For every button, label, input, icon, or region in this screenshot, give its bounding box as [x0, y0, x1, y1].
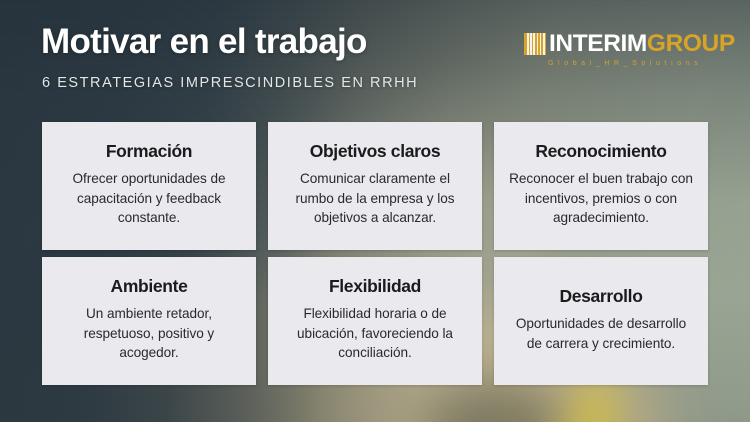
card-body: Oportunidades de desarrollo de carrera y…	[508, 314, 694, 353]
card-title: Objetivos claros	[310, 142, 441, 161]
strategy-card-formacion[interactable]: Formación Ofrecer oportunidades de capac…	[42, 122, 256, 250]
logo-tagline: Global_HR_Solutions	[548, 59, 716, 68]
strategy-card-reconocimiento[interactable]: Reconocimiento Reconocer el buen trabajo…	[494, 122, 708, 250]
strategy-card-grid: Formación Ofrecer oportunidades de capac…	[42, 122, 708, 382]
card-body: Comunicar claramente el rumbo de la empr…	[282, 169, 468, 228]
card-body: Flexibilidad horaria o de ubicación, fav…	[282, 304, 468, 363]
strategy-card-ambiente[interactable]: Ambiente Un ambiente retador, respetuoso…	[42, 257, 256, 385]
card-title: Ambiente	[111, 277, 188, 296]
logo-word-interim: INTERIM	[549, 30, 647, 57]
logo-wordmark: INTERIMGROUP	[549, 32, 735, 56]
strategy-card-objetivos-claros[interactable]: Objetivos claros Comunicar claramente el…	[268, 122, 482, 250]
page-subtitle: 6 ESTRATEGIAS IMPRESCINDIBLES EN RRHH	[42, 76, 418, 91]
header: Motivar en el trabajo 6 ESTRATEGIAS IMPR…	[0, 0, 750, 110]
slide-canvas: Motivar en el trabajo 6 ESTRATEGIAS IMPR…	[0, 0, 750, 422]
logo-word-group: GROUP	[647, 30, 735, 57]
logo-mark-icon	[524, 33, 546, 55]
card-title: Flexibilidad	[329, 277, 421, 296]
card-title: Desarrollo	[559, 287, 642, 306]
strategy-card-desarrollo[interactable]: Desarrollo Oportunidades de desarrollo d…	[494, 257, 708, 385]
card-body: Reconocer el buen trabajo con incentivos…	[508, 169, 694, 228]
card-body: Ofrecer oportunidades de capacitación y …	[56, 169, 242, 228]
logo-row: INTERIMGROUP	[524, 31, 716, 57]
card-title: Formación	[106, 142, 192, 161]
brand-logo: INTERIMGROUP Global_HR_Solutions	[524, 31, 716, 71]
card-title: Reconocimiento	[535, 142, 666, 161]
card-body: Un ambiente retador, respetuoso, positiv…	[56, 304, 242, 363]
strategy-card-flexibilidad[interactable]: Flexibilidad Flexibilidad horaria o de u…	[268, 257, 482, 385]
page-title: Motivar en el trabajo	[41, 24, 367, 59]
